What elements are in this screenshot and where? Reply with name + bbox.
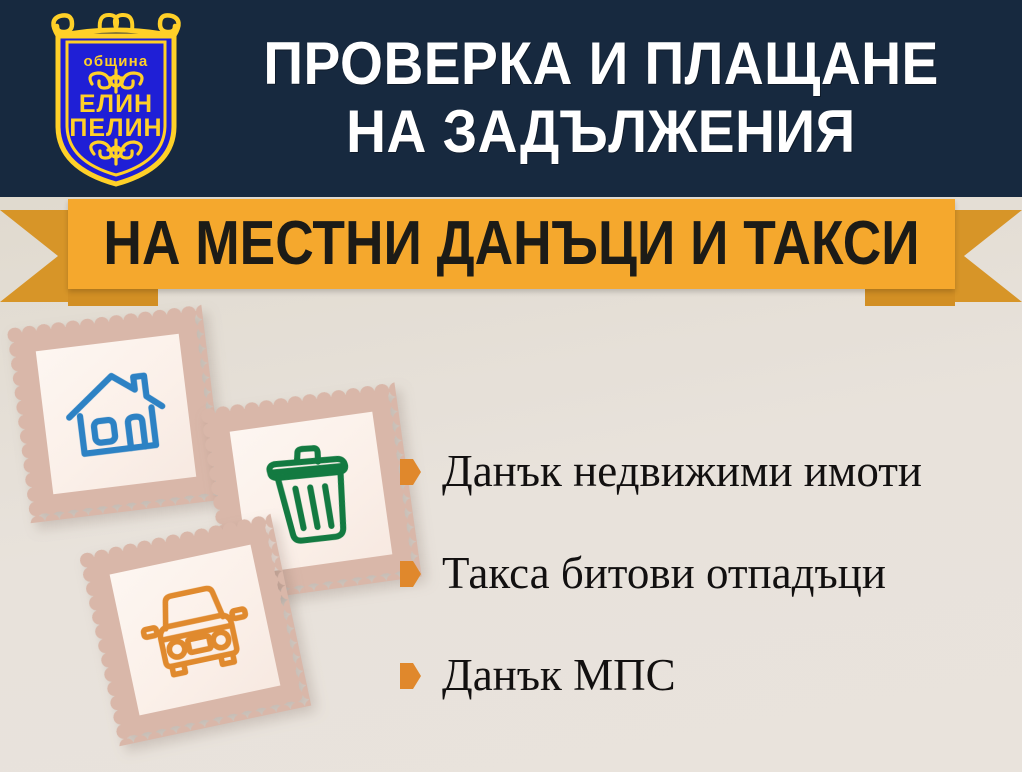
stamp-card-property (7, 305, 225, 523)
arrow-bullet-icon (400, 663, 421, 689)
list-item[interactable]: Такса битови отпадъци (400, 522, 1020, 624)
list-item[interactable]: Данък недвижими имоти (400, 420, 1020, 522)
ribbon-label: НА МЕСТНИ ДАНЪЦИ И ТАКСИ (103, 213, 919, 275)
list-item-label: Данък МПС (442, 653, 676, 698)
arrow-bullet-icon (400, 459, 421, 485)
list-item-label: Такса битови отпадъци (442, 551, 886, 596)
ribbon-main-panel: НА МЕСТНИ ДАНЪЦИ И ТАКСИ (68, 199, 955, 289)
municipality-logo: община ЕЛИН ПЕЛИН (36, 8, 196, 190)
list-item[interactable]: Данък МПС (400, 624, 1020, 726)
page-title-line-2: НА ЗАДЪЛЖЕНИЯ (346, 98, 856, 166)
poster-root: община ЕЛИН ПЕЛИН (0, 0, 1022, 772)
arrow-bullet-icon (400, 561, 421, 587)
subtitle-ribbon: НА МЕСТНИ ДАНЪЦИ И ТАКСИ (0, 196, 1022, 308)
house-icon (7, 305, 225, 523)
stamp-card-vehicle (79, 514, 311, 746)
coat-of-arms-icon: община ЕЛИН ПЕЛИН (36, 8, 196, 190)
page-title-line-1: ПРОВЕРКА И ПЛАЩАНЕ (263, 30, 938, 98)
logo-top-word: община (84, 53, 149, 70)
logo-name-line2: ПЕЛИН (69, 114, 162, 142)
car-icon (79, 514, 311, 746)
stamp-card-group (0, 300, 430, 770)
tax-type-list: Данък недвижими имоти Такса битови отпад… (400, 420, 1020, 726)
header-title-block: ПРОВЕРКА И ПЛАЩАНЕ НА ЗАДЪЛЖЕНИЯ (196, 18, 1006, 178)
list-item-label: Данък недвижими имоти (442, 449, 922, 494)
header-bar: община ЕЛИН ПЕЛИН (0, 0, 1022, 197)
